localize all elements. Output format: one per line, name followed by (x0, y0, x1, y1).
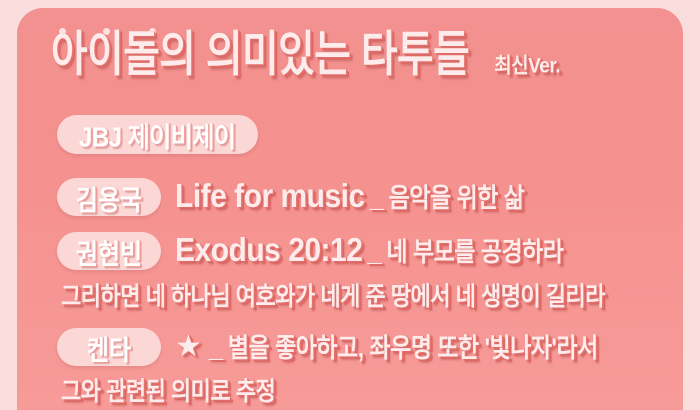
separator-2: _ (367, 237, 381, 264)
tattoo-meaning-continuation-3: 그와 관련된 의미로 추정 (61, 379, 275, 405)
member-badge-2: 권현빈 (57, 232, 161, 270)
entry-row-2: 권현빈 Exodus 20:12 _ 네 부모를 공경하라 (57, 232, 563, 270)
entry-row-1: 김용국 Life for music _ 음악을 위한 삶 (57, 178, 524, 216)
poster-card: 아이돌의 의미있는 타투들 최신Ver. JBJ 제이비제이 김용국 Life … (17, 8, 683, 410)
member-name-1: 김용국 (76, 177, 142, 217)
entry-description-3: ★ _ 별을 좋아하고, 좌우명 또한 '빛나자'라서 (175, 332, 598, 362)
member-name-3: 켄타 (87, 327, 131, 367)
separator-1: _ (370, 183, 384, 210)
member-badge-3: 켄타 (57, 328, 161, 366)
page-title: 아이돌의 의미있는 타투들 (51, 31, 469, 79)
group-badge: JBJ 제이비제이 (57, 115, 258, 154)
version-label: 최신Ver. (494, 56, 560, 77)
tattoo-meaning-1: 음악을 위한 삶 (389, 185, 525, 212)
title-row: 아이돌의 의미있는 타투들 최신Ver. (51, 38, 560, 79)
tattoo-meaning-2: 네 부모를 공경하라 (386, 239, 563, 266)
tattoo-text-2: Exodus 20:12 (175, 234, 362, 268)
poster-canvas: 아이돌의 의미있는 타투들 최신Ver. JBJ 제이비제이 김용국 Life … (0, 0, 700, 410)
separator-3: _ (209, 333, 223, 360)
tattoo-meaning-continuation-2: 그리하면 네 하나님 여호와가 네게 준 땅에서 네 생명이 길리라 (61, 284, 605, 310)
tattoo-text-1: Life for music (175, 180, 365, 214)
entry-row-3: 켄타 ★ _ 별을 좋아하고, 좌우명 또한 '빛나자'라서 (57, 328, 598, 366)
star-icon: ★ (175, 332, 202, 362)
entry-description-2: Exodus 20:12 _ 네 부모를 공경하라 (175, 236, 563, 266)
tattoo-meaning-3: 별을 좋아하고, 좌우명 또한 '빛나자'라서 (228, 335, 598, 362)
member-badge-1: 김용국 (57, 178, 161, 216)
entry-description-1: Life for music _ 음악을 위한 삶 (175, 182, 524, 212)
member-name-2: 권현빈 (76, 231, 142, 271)
group-badge-label: JBJ 제이비제이 (79, 115, 236, 155)
